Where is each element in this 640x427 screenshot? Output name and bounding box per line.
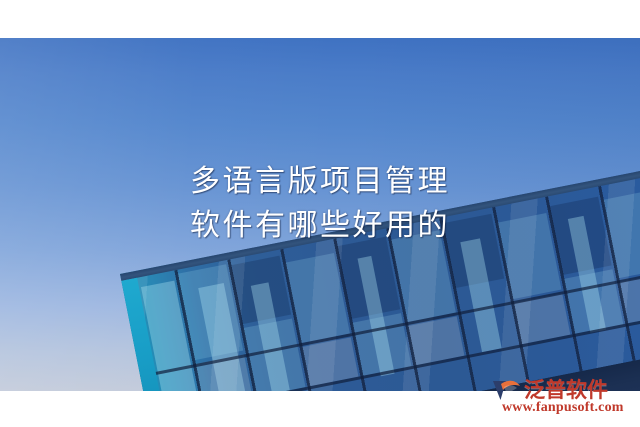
- banner-image: 多语言版项目管理 软件有哪些好用的 泛普软件 www.fanpusoft.com: [0, 0, 640, 427]
- hero-photo: [0, 38, 640, 391]
- watermark-logo: 泛普软件 www.fanpusoft.com: [492, 378, 640, 420]
- watermark-brand-name: 泛普软件: [524, 378, 608, 402]
- watermark-brand-row: 泛普软件: [492, 378, 608, 402]
- glass-office-building: [120, 126, 640, 391]
- fanpu-v-swoosh-logo-icon: [492, 378, 522, 402]
- building-container: [0, 38, 640, 391]
- top-margin-band: [0, 0, 640, 38]
- watermark-url: www.fanpusoft.com: [502, 400, 624, 416]
